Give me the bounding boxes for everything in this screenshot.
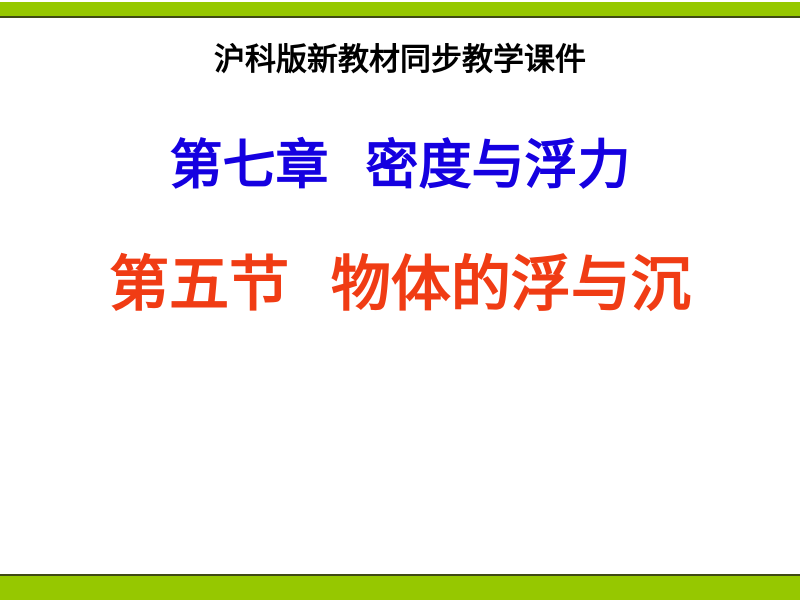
top-green-band bbox=[0, 2, 800, 18]
course-subtitle: 沪科版新教材同步教学课件 bbox=[0, 44, 800, 77]
slide-canvas: 沪科版新教材同步教学课件 第七章 密度与浮力 第五节 物体的浮与沉 bbox=[0, 0, 800, 600]
bottom-green-band bbox=[0, 574, 800, 600]
chapter-title: 第七章 密度与浮力 bbox=[0, 138, 800, 194]
section-title: 第五节 物体的浮与沉 bbox=[0, 254, 800, 317]
